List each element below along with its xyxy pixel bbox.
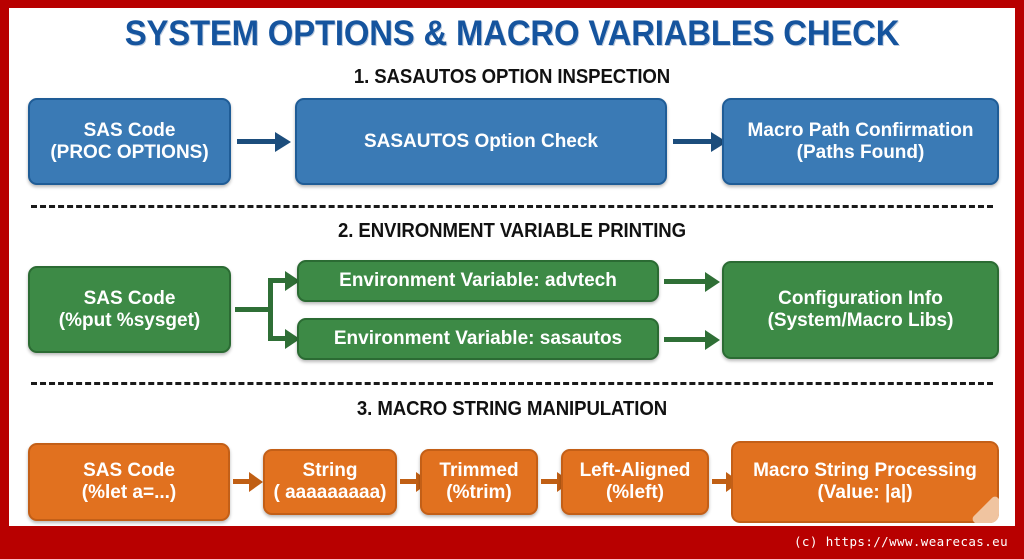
white-canvas: SYSTEM OPTIONS & MACRO VARIABLES CHECK 1… <box>9 8 1015 526</box>
footer-bar: (c) https://www.wearecas.eu <box>0 526 1024 559</box>
infographic-page: SYSTEM OPTIONS & MACRO VARIABLES CHECK 1… <box>0 0 1024 559</box>
watermark-text: (c) https://www.wearecas.eu <box>794 534 1008 549</box>
arrow-2b-line <box>664 337 710 342</box>
node-macro-string-processing-wrapper: Macro String Processing (Value: |a|) <box>731 441 999 523</box>
divider-2 <box>31 382 993 385</box>
arrow-2a-line <box>664 279 710 284</box>
arrow-2b-head <box>705 330 720 350</box>
arrow-1a-head <box>275 132 291 152</box>
section-1-heading: 1. SASAUTOS OPTION INSPECTION <box>44 66 980 89</box>
node-sas-code-put-sysget[interactable]: SAS Code (%put %sysget) <box>28 266 231 353</box>
arrow-2a-head <box>705 272 720 292</box>
section-2-heading: 2. ENVIRONMENT VARIABLE PRINTING <box>44 220 980 243</box>
node-left-aligned[interactable]: Left-Aligned (%left) <box>561 449 709 515</box>
node-sas-code-proc-options[interactable]: SAS Code (PROC OPTIONS) <box>28 98 231 185</box>
divider-1 <box>31 205 993 208</box>
node-string-raw[interactable]: String ( aaaaaaaaa) <box>263 449 397 515</box>
arrow-3a-head <box>249 472 263 492</box>
page-title: SYSTEM OPTIONS & MACRO VARIABLES CHECK <box>39 14 985 54</box>
node-env-var-sasautos[interactable]: Environment Variable: sasautos <box>297 318 659 360</box>
node-env-var-advtech[interactable]: Environment Variable: advtech <box>297 260 659 302</box>
node-configuration-info[interactable]: Configuration Info (System/Macro Libs) <box>722 261 999 359</box>
node-macro-string-processing[interactable]: Macro String Processing (Value: |a|) <box>731 441 999 523</box>
node-trimmed[interactable]: Trimmed (%trim) <box>420 449 538 515</box>
section-3-heading: 3. MACRO STRING MANIPULATION <box>44 398 980 421</box>
node-sasautos-option-check[interactable]: SASAUTOS Option Check <box>295 98 667 185</box>
node-macro-path-confirmation[interactable]: Macro Path Confirmation (Paths Found) <box>722 98 999 185</box>
fork-riser <box>268 278 273 341</box>
node-sas-code-let-a[interactable]: SAS Code (%let a=...) <box>28 443 230 521</box>
